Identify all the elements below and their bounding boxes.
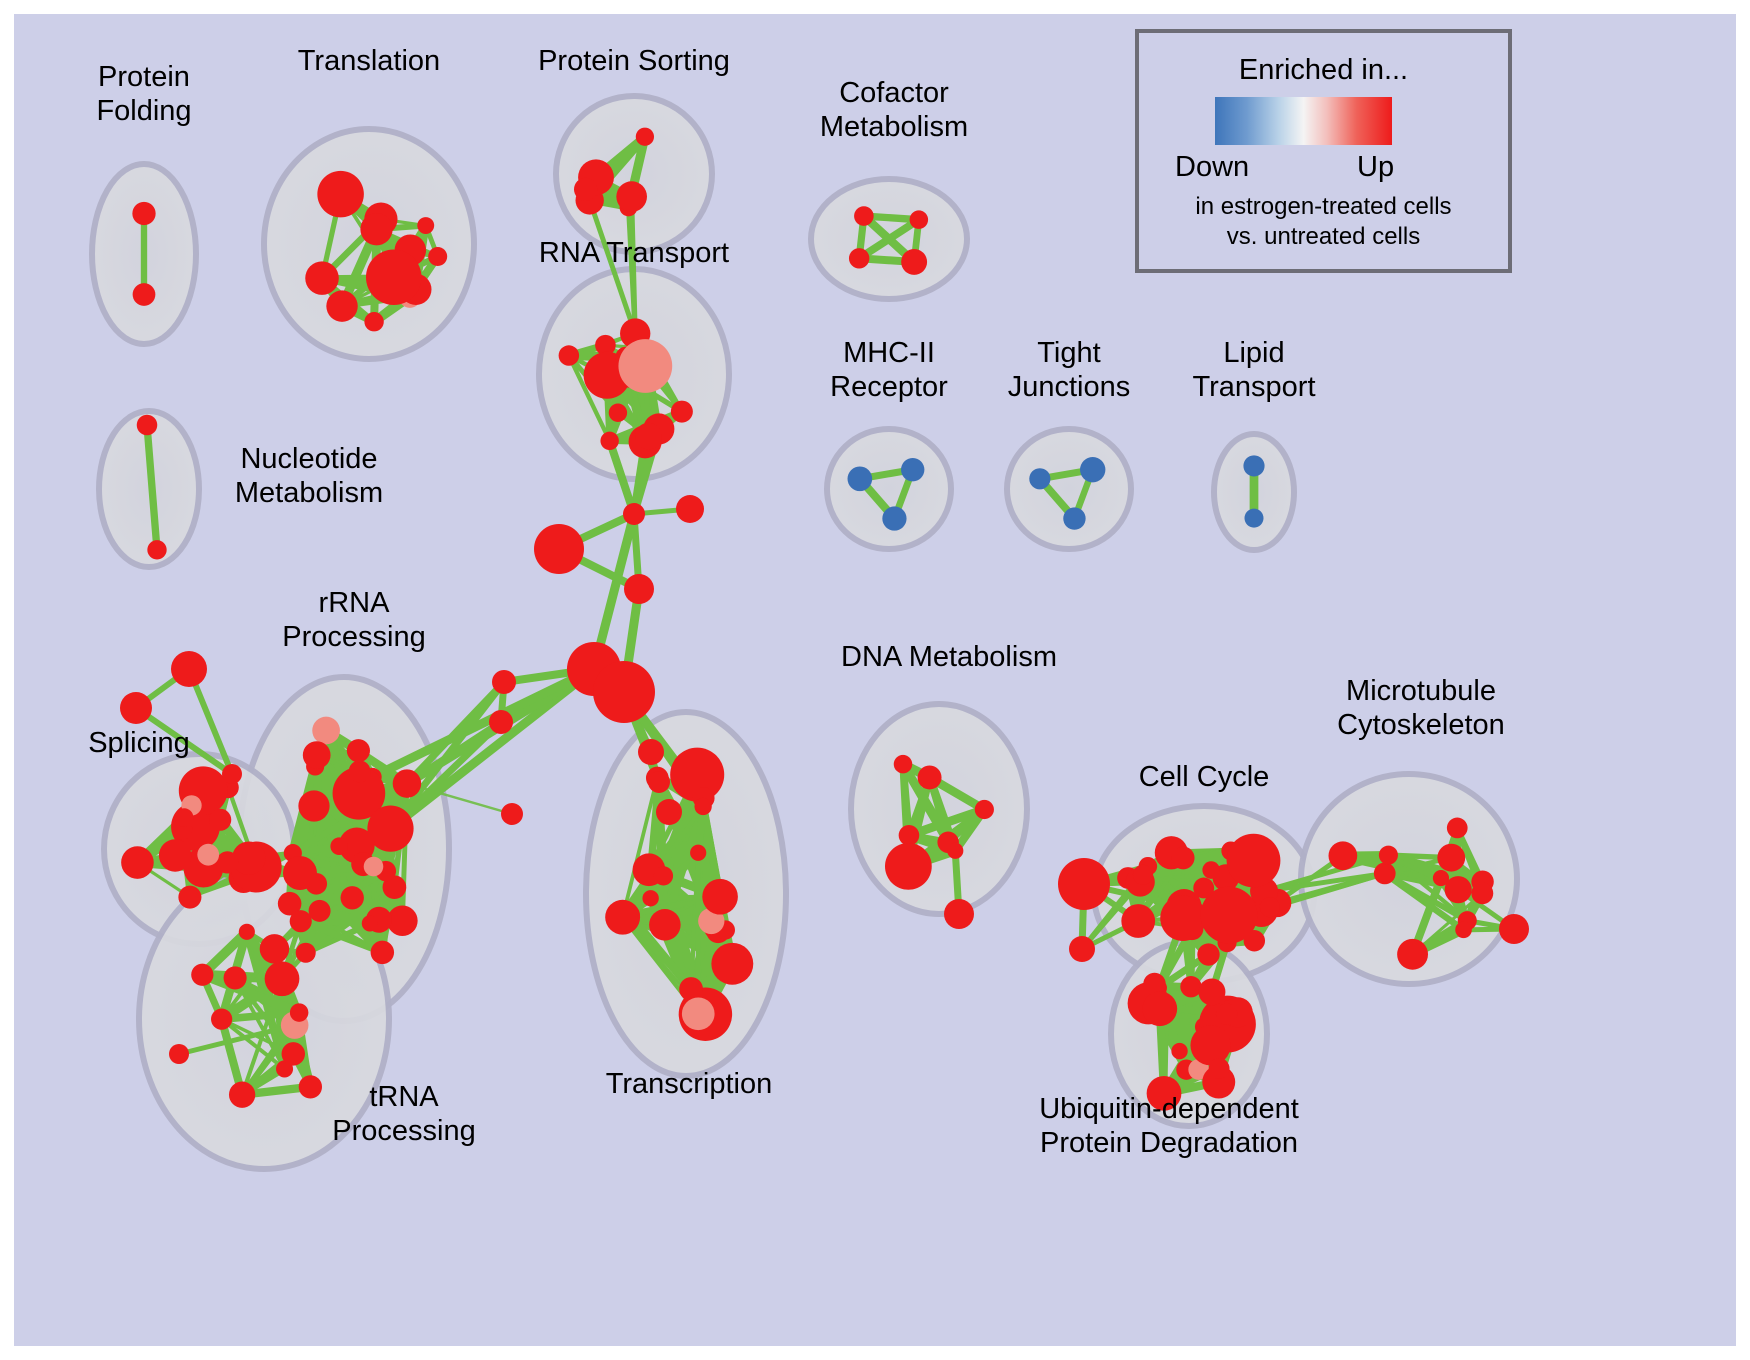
network-node [882, 506, 906, 530]
network-node [349, 760, 371, 782]
network-node [1499, 914, 1529, 944]
network-node [366, 249, 422, 305]
network-node [694, 798, 711, 815]
network-node [642, 890, 658, 906]
network-node [360, 213, 392, 245]
network-node [265, 961, 300, 996]
network-node [1198, 978, 1225, 1005]
network-node [309, 900, 331, 922]
network-edge [632, 197, 636, 334]
cluster-ellipse [1007, 429, 1131, 549]
network-node [1190, 1025, 1230, 1065]
network-node [1069, 936, 1095, 962]
network-node [1202, 861, 1220, 879]
legend-title: Enriched in... [1139, 54, 1508, 87]
legend-box: Enriched in... Down Up in estrogen-treat… [1135, 29, 1512, 273]
network-node [593, 661, 655, 723]
network-node [624, 574, 654, 604]
network-node [690, 845, 706, 861]
network-node [854, 206, 874, 226]
network-node [1445, 876, 1472, 903]
network-node [492, 670, 516, 694]
network-node [559, 345, 580, 366]
network-node [347, 739, 370, 762]
network-node [224, 966, 247, 989]
network-node [1455, 922, 1472, 939]
network-node [364, 312, 383, 331]
network-node [901, 458, 924, 481]
network-node [1216, 1003, 1237, 1024]
network-node [489, 710, 513, 734]
network-node [1172, 847, 1195, 870]
network-node [298, 790, 329, 821]
network-node [635, 423, 662, 450]
network-node [132, 202, 155, 225]
network-node [239, 924, 255, 940]
network-node [1063, 507, 1085, 529]
network-node [147, 540, 166, 559]
network-node [1447, 818, 1468, 839]
network-node [428, 247, 447, 266]
network-node [918, 766, 942, 790]
network-node [534, 524, 584, 574]
network-node [137, 415, 158, 436]
network-node [283, 856, 317, 890]
network-node [1379, 846, 1398, 865]
network-node [178, 886, 201, 909]
legend-caption-line2: vs. untreated cells [1139, 223, 1508, 251]
cluster-ellipse [827, 429, 951, 549]
network-node [290, 910, 312, 932]
network-node [1121, 904, 1155, 938]
network-node [623, 503, 645, 525]
network-node [636, 128, 654, 146]
network-node [1397, 939, 1428, 970]
network-node [1260, 897, 1280, 917]
network-node [341, 886, 364, 909]
network-node [1437, 844, 1465, 872]
legend-caption-line1: in estrogen-treated cells [1139, 193, 1508, 221]
network-node [638, 739, 664, 765]
network-node [1197, 943, 1219, 965]
network-node [169, 1044, 189, 1064]
network-node [299, 1075, 322, 1098]
network-node [296, 943, 316, 963]
network-node [600, 432, 618, 450]
network-node [229, 1082, 255, 1108]
network-node [133, 283, 156, 306]
network-node [362, 915, 378, 931]
network-node [330, 837, 348, 855]
legend-low-label: Down [1175, 151, 1249, 184]
network-node [711, 943, 753, 985]
network-node [649, 909, 681, 941]
network-node [171, 651, 207, 687]
network-node [1171, 1043, 1187, 1059]
network-node [317, 171, 364, 218]
network-node [618, 339, 672, 393]
network-node [679, 977, 703, 1001]
network-node [975, 800, 994, 819]
network-node [1329, 841, 1358, 870]
network-node [901, 249, 927, 275]
network-node [393, 769, 421, 797]
network-canvas: Protein Folding Translation Protein Sort… [14, 14, 1736, 1346]
figure-root: Protein Folding Translation Protein Sort… [0, 0, 1750, 1360]
network-node [1029, 468, 1050, 489]
network-node [849, 248, 869, 268]
network-node [947, 843, 963, 859]
network-node [1160, 895, 1206, 941]
network-node [282, 1042, 305, 1065]
network-node [1209, 1058, 1230, 1079]
network-node [1133, 865, 1153, 885]
network-node [501, 803, 523, 825]
network-node [159, 839, 191, 871]
network-node [609, 404, 627, 422]
network-node [1200, 887, 1257, 944]
network-node [885, 843, 932, 890]
network-node [1147, 1076, 1182, 1111]
network-node [848, 466, 873, 491]
network-node [1227, 834, 1281, 888]
network-node [574, 178, 597, 201]
network-node [197, 844, 219, 866]
network-node [209, 809, 231, 831]
network-node [290, 1003, 308, 1021]
legend-high-label: Up [1357, 151, 1394, 184]
network-node [222, 764, 242, 784]
network-node [1244, 509, 1263, 528]
network-node [1080, 457, 1105, 482]
network-node [910, 210, 929, 229]
network-node [326, 290, 357, 321]
network-node [654, 866, 673, 885]
network-node [216, 851, 238, 873]
network-node [702, 879, 738, 915]
network-node [1243, 455, 1264, 476]
network-node [1374, 863, 1396, 885]
network-node [120, 692, 152, 724]
network-node [211, 1009, 232, 1030]
network-node [417, 217, 434, 234]
network-node [364, 857, 384, 877]
network-node [616, 181, 647, 212]
network-node [175, 808, 194, 827]
network-node [605, 900, 640, 935]
network-node [303, 741, 331, 769]
network-node [191, 964, 213, 986]
network-node [371, 941, 394, 964]
network-node [676, 495, 704, 523]
network-node [1471, 882, 1493, 904]
network-node [312, 717, 340, 745]
network-node [305, 261, 339, 295]
network-node [671, 401, 693, 423]
network-node [121, 846, 154, 879]
network-node [894, 755, 912, 773]
network-node [682, 997, 715, 1030]
legend-color-bar [1215, 97, 1392, 145]
network-node [648, 771, 670, 793]
network-node [944, 899, 974, 929]
network-node [1142, 991, 1177, 1026]
network-node [1180, 976, 1201, 997]
network-node [260, 934, 289, 963]
network-node [899, 825, 920, 846]
network-node [656, 799, 682, 825]
network-node [1058, 858, 1110, 910]
